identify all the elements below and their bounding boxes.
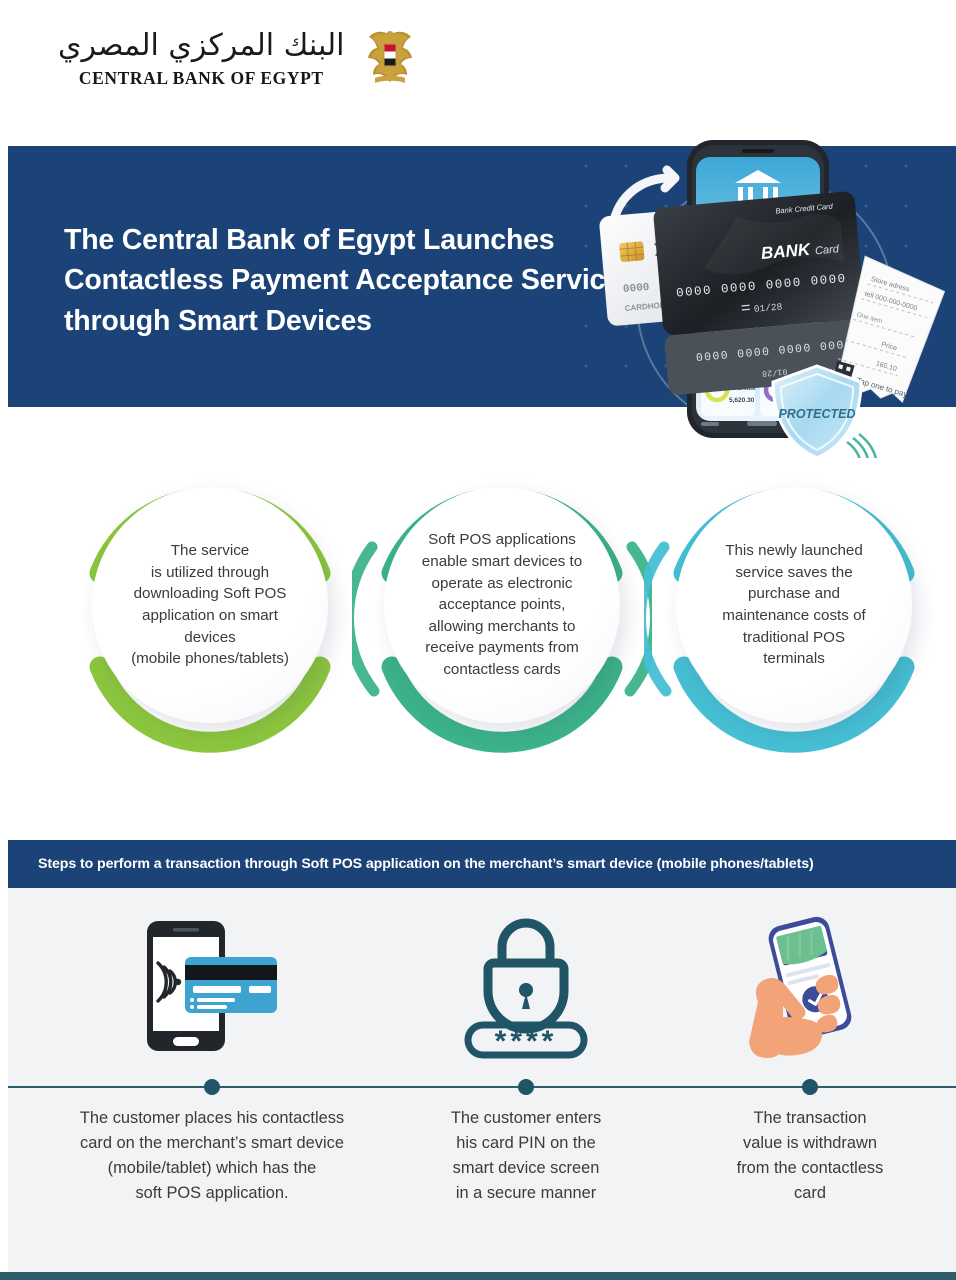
pin-asterisks: **** bbox=[495, 1025, 558, 1058]
timeline-dot bbox=[518, 1079, 534, 1095]
logo-arabic-text: البنك المركزي المصري bbox=[58, 27, 345, 65]
step-text: The customer enters his card PIN on the … bbox=[390, 1106, 662, 1206]
step-icon-wrap: **** bbox=[368, 900, 684, 1070]
step-tap-card: The customer places his contactless card… bbox=[54, 888, 370, 1272]
circle-text: The service is utilized through download… bbox=[103, 540, 318, 669]
step-enter-pin: **** The customer enters his card PIN on… bbox=[368, 888, 684, 1272]
steps-banner: Steps to perform a transaction through S… bbox=[8, 840, 956, 888]
eagle-of-saladin-emblem-icon bbox=[367, 27, 413, 89]
step-text: The customer places his contactless card… bbox=[76, 1106, 348, 1206]
benefit-circle-cost-savings: This newly launched service saves the pu… bbox=[644, 455, 944, 785]
logo-english-text: CENTRAL BANK OF EGYPT bbox=[79, 68, 324, 89]
svg-text:****: **** bbox=[495, 1025, 558, 1058]
header: البنك المركزي المصري CENTRAL BANK OF EGY… bbox=[0, 0, 956, 146]
steps-section: The customer places his contactless card… bbox=[8, 888, 956, 1272]
circle-text: This newly launched service saves the pu… bbox=[687, 540, 902, 669]
cbe-logo: البنك المركزي المصري CENTRAL BANK OF EGY… bbox=[58, 27, 413, 89]
circle-face: Soft POS applications enable smart devic… bbox=[384, 487, 620, 723]
benefit-circles: The service is utilized through download… bbox=[0, 455, 956, 835]
step-icon-wrap bbox=[54, 900, 370, 1070]
padlock-pin-icon: **** bbox=[456, 911, 596, 1059]
steps-banner-text: Steps to perform a transaction through S… bbox=[8, 856, 814, 872]
timeline-dot bbox=[204, 1079, 220, 1095]
hero-banner: The Central Bank of Egypt Launches Conta… bbox=[8, 146, 956, 407]
circle-text: Soft POS applications enable smart devic… bbox=[395, 529, 610, 680]
bottom-accent-bar bbox=[0, 1272, 956, 1280]
circle-face: The service is utilized through download… bbox=[92, 487, 328, 723]
phone-contactless-card-icon bbox=[137, 913, 287, 1058]
step-withdraw-value: The transaction value is withdrawn from … bbox=[652, 888, 956, 1272]
step-icon-wrap bbox=[652, 900, 956, 1070]
benefit-circle-service-utilization: The service is utilized through download… bbox=[60, 455, 360, 785]
benefit-circle-soft-pos-capability: Soft POS applications enable smart devic… bbox=[352, 455, 652, 785]
circle-face: This newly launched service saves the pu… bbox=[676, 487, 912, 723]
step-text: The transaction value is withdrawn from … bbox=[674, 1106, 946, 1206]
page-title: The Central Bank of Egypt Launches Conta… bbox=[64, 220, 624, 341]
infographic-page: البنك المركزي المصري CENTRAL BANK OF EGY… bbox=[0, 0, 956, 1280]
timeline-dot bbox=[802, 1079, 818, 1095]
hand-holding-phone-confirm-icon bbox=[740, 910, 880, 1060]
logo-text: البنك المركزي المصري CENTRAL BANK OF EGY… bbox=[58, 27, 345, 89]
svg-text:PROTECTED: PROTECTED bbox=[778, 407, 855, 421]
